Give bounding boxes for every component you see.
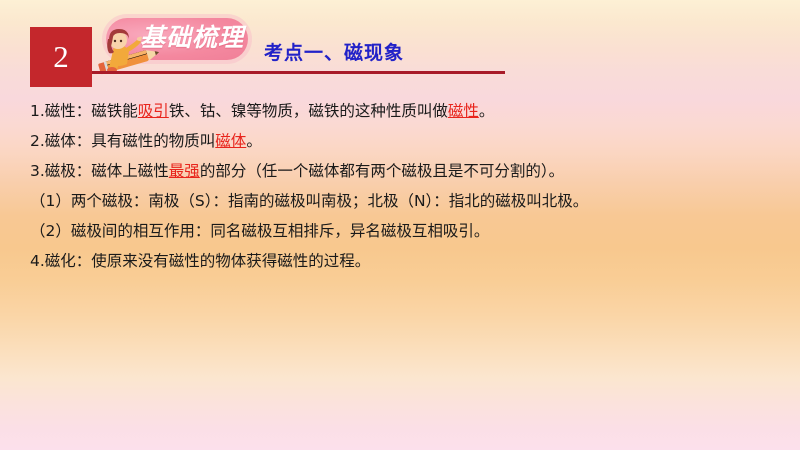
content-line: 3.磁极：磁体上磁性最强的部分（任一个磁体都有两个磁极且是不可分割的）。 [30,156,780,186]
content-body: 1.磁性：磁铁能吸引铁、钴、镍等物质，磁铁的这种性质叫做磁性。2.磁体：具有磁性… [30,96,780,276]
content-line: 2.磁体：具有磁性的物质叫磁体。 [30,126,780,156]
text-run: 铁、钴、镍等物质，磁铁的这种性质叫做 [169,102,448,120]
section-number-badge: 2 [30,27,92,87]
text-run: 的部分（任一个磁体都有两个磁极且是不可分割的）。 [200,162,564,180]
text-run: 3.磁极：磁体上磁性 [30,162,169,180]
header-divider [92,71,505,74]
text-run: 4.磁化：使原来没有磁性的物体获得磁性的过程。 [30,252,370,270]
text-run: （1）两个磁极：南极（S）：指南的磁极叫南极；北极（N）：指北的磁极叫北极。 [30,192,588,210]
text-run: 2.磁体：具有磁性的物质叫 [30,132,215,150]
brush-title-label: 基础梳理 [118,20,244,58]
content-line: 1.磁性：磁铁能吸引铁、钴、镍等物质，磁铁的这种性质叫做磁性。 [30,96,780,126]
text-run: 。 [246,132,262,150]
text-run: 。 [479,102,495,120]
content-line: 4.磁化：使原来没有磁性的物体获得磁性的过程。 [30,246,780,276]
content-line: （2）磁极间的相互作用：同名磁极互相排斥，异名磁极互相吸引。 [30,216,780,246]
text-run: （2）磁极间的相互作用：同名磁极互相排斥，异名磁极互相吸引。 [30,222,489,240]
slide-canvas: 2 [0,0,800,450]
page-title: 考点一、磁现象 [264,38,404,65]
slide-header: 2 [0,0,800,92]
content-line: （1）两个磁极：南极（S）：指南的磁极叫南极；北极（N）：指北的磁极叫北极。 [30,186,780,216]
highlighted-term: 磁体 [215,132,246,150]
highlighted-term: 磁性 [448,102,479,120]
highlighted-term: 最强 [169,162,200,180]
text-run: 1.磁性：磁铁能 [30,102,138,120]
highlighted-term: 吸引 [138,102,169,120]
